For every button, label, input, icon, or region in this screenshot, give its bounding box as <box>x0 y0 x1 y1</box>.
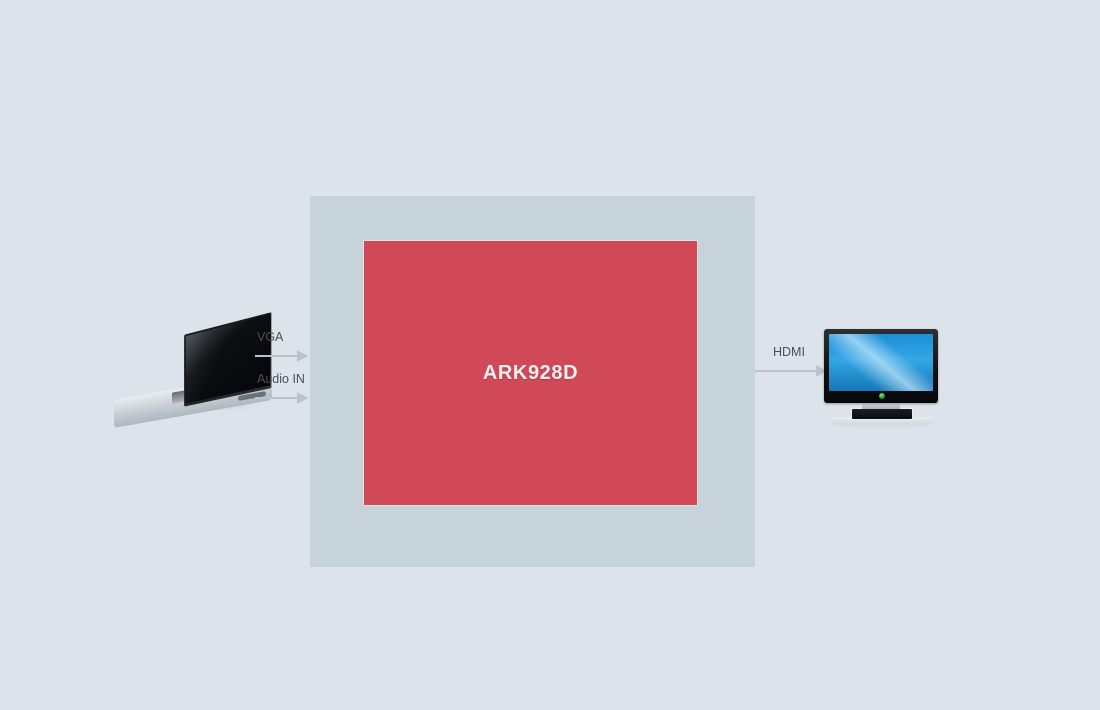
monitor-frame <box>824 329 938 403</box>
connection-audio-in-label: Audio IN <box>257 372 305 386</box>
device-label: ARK928D <box>364 241 697 505</box>
connection-hdmi: HDMI <box>755 345 826 379</box>
laptop-icon <box>112 312 272 417</box>
connection-vga: VGA <box>255 330 307 364</box>
arrow-head-icon <box>297 350 308 362</box>
laptop-screen-glare <box>186 319 254 406</box>
arrow-head-icon <box>297 392 308 404</box>
monitor-power-led-icon <box>879 393 885 399</box>
monitor-icon <box>824 329 942 429</box>
connection-vga-label: VGA <box>257 330 283 344</box>
connection-audio-in: Audio IN <box>255 372 307 406</box>
monitor-stand-neck <box>862 402 900 409</box>
monitor-screen <box>829 334 933 391</box>
connection-hdmi-label: HDMI <box>773 345 805 359</box>
monitor-stand-bar <box>851 408 913 420</box>
diagram-canvas: ARK928D VGA Audio IN HDMI <box>0 0 1100 710</box>
